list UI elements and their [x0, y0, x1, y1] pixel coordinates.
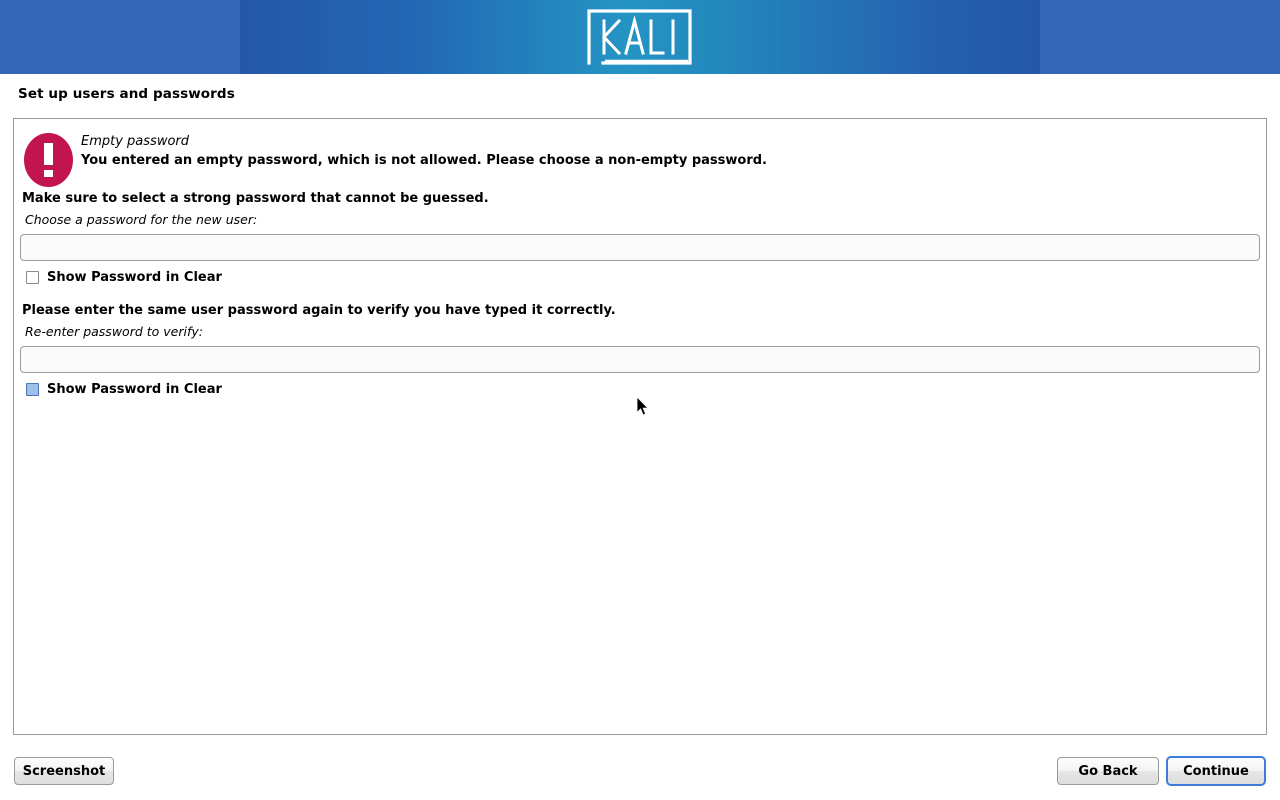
kali-logo-icon: [583, 9, 696, 65]
password-form: Make sure to select a strong password th…: [14, 191, 1266, 397]
verify-field-label: Re-enter password to verify:: [25, 324, 1266, 339]
page-title: Set up users and passwords: [18, 86, 235, 102]
error-exclamation-icon: [24, 133, 73, 187]
show-password-checkbox-row-1[interactable]: Show Password in Clear: [26, 270, 1266, 285]
verify-password-input[interactable]: [20, 346, 1260, 373]
show-password-checkbox-1[interactable]: [26, 271, 39, 284]
installer-content-panel: Empty password You entered an empty pass…: [13, 118, 1267, 735]
password-field-label: Choose a password for the new user:: [25, 212, 1266, 227]
screenshot-button[interactable]: Screenshot: [14, 757, 114, 785]
verify-password-heading: Please enter the same user password agai…: [22, 303, 1266, 318]
error-title: Empty password: [81, 134, 189, 149]
password-input[interactable]: [20, 234, 1260, 261]
kali-installer-banner: [0, 0, 1280, 74]
show-password-checkbox-row-2[interactable]: Show Password in Clear: [26, 382, 1266, 397]
continue-button[interactable]: Continue: [1166, 756, 1266, 786]
show-password-label-2: Show Password in Clear: [47, 382, 222, 397]
show-password-checkbox-2[interactable]: [26, 383, 39, 396]
go-back-button[interactable]: Go Back: [1057, 757, 1159, 785]
error-notice: Empty password You entered an empty pass…: [14, 125, 1266, 197]
password-strength-heading: Make sure to select a strong password th…: [22, 191, 1266, 206]
form-spacer: [14, 285, 1266, 303]
error-message: You entered an empty password, which is …: [81, 153, 767, 168]
show-password-label-1: Show Password in Clear: [47, 270, 222, 285]
